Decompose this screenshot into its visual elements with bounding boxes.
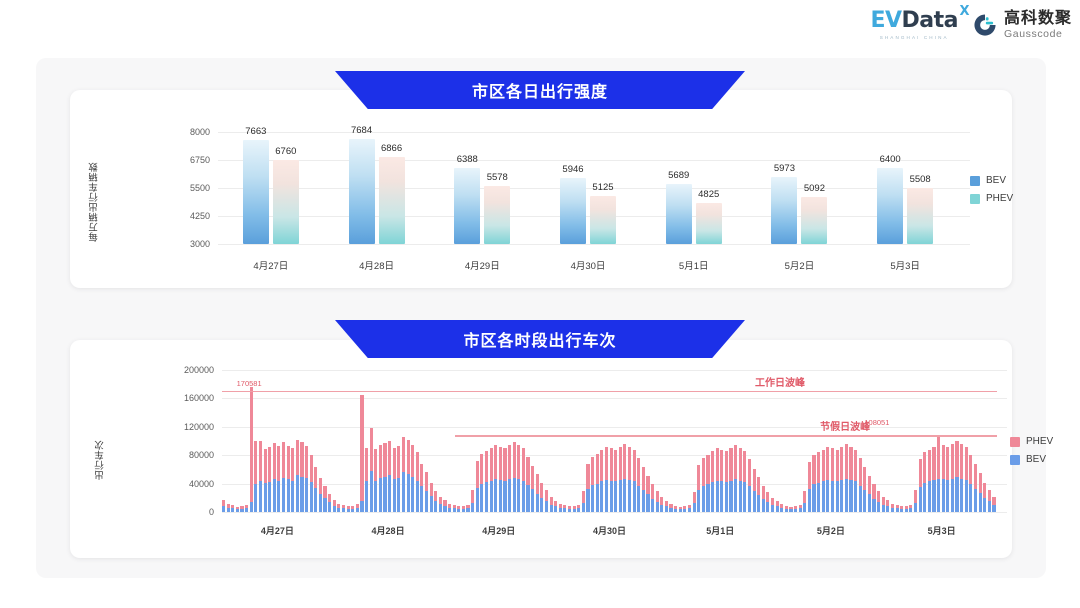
- chart2-bar-segment-phev: [716, 448, 719, 481]
- chart2-bar-segment-bev: [227, 508, 230, 512]
- chart2-x-label: 4月27日: [261, 524, 294, 537]
- chart1-y-axis-title: 每万辆出行车辆数: [88, 134, 102, 242]
- chart2-bar-segment-bev: [374, 481, 377, 512]
- chart2-bar-segment-phev: [439, 497, 442, 504]
- chart2-bar-segment-bev: [988, 501, 991, 512]
- chart2-bar-segment-phev: [859, 458, 862, 486]
- chart2-bar-segment-bev: [310, 482, 313, 512]
- logo-bar: EVData X SHANGHAI CHINA 高科数聚 Gausscode: [870, 10, 1072, 40]
- chart2-bar-segment-bev: [531, 489, 534, 512]
- chart2-y-tick: 160000: [184, 393, 214, 403]
- chart2-bar-segment-bev: [660, 505, 663, 512]
- chart2-stacked-bar: [946, 447, 949, 512]
- chart2-stacked-bar: [979, 473, 982, 512]
- chart2-bar-segment-phev: [577, 505, 580, 508]
- chart2-bar-segment-phev: [753, 469, 756, 491]
- chart2-bar-segment-bev: [992, 505, 995, 512]
- chart2-bar-segment-bev: [826, 480, 829, 512]
- chart2-bar-segment-bev: [840, 480, 843, 512]
- chart2-bar-segment-bev: [526, 485, 529, 512]
- chart2-stacked-bar: [480, 454, 483, 512]
- chart2-bar-segment-phev: [240, 506, 243, 509]
- chart2-stacked-bar: [227, 504, 230, 512]
- chart2-bar-segment-bev: [264, 483, 267, 512]
- chart2-bar-segment-phev: [780, 504, 783, 508]
- chart2-bar-segment-bev: [397, 478, 400, 512]
- chart1-x-label: 4月30日: [571, 258, 606, 272]
- chart2-stacked-bar: [434, 491, 437, 512]
- chart2-stacked-bar: [840, 447, 843, 512]
- chart2-bar-segment-bev: [656, 502, 659, 512]
- chart2-stacked-bar: [831, 448, 834, 512]
- chart2-bar-segment-bev: [503, 481, 506, 512]
- chart2-bar-segment-phev: [559, 504, 562, 508]
- chart2-bar-segment-phev: [891, 504, 894, 508]
- chart2-bar-segment-bev: [485, 482, 488, 512]
- chart2-bar-segment-phev: [526, 457, 529, 485]
- chart2-bar-segment-phev: [946, 447, 949, 480]
- chart2-bar-segment-bev: [420, 486, 423, 512]
- chart2-bar-segment-bev: [550, 505, 553, 512]
- dashboard-page: EVData X SHANGHAI CHINA 高科数聚 Gausscode 市…: [0, 0, 1080, 608]
- chart2-bar-segment-bev: [836, 481, 839, 512]
- chart2-bar-segment-phev: [702, 458, 705, 486]
- chart2-bar-segment-bev: [923, 483, 926, 512]
- chart2-bar-segment-bev: [937, 479, 940, 512]
- chart1-gridline: [218, 244, 970, 245]
- chart2-stacked-bar: [360, 395, 363, 512]
- chart1-bar-value: 5125: [575, 182, 631, 193]
- chart2-stacked-bar: [264, 449, 267, 512]
- chart2-bar-segment-phev: [969, 455, 972, 484]
- chart2-bar-segment-bev: [287, 479, 290, 512]
- chart1-bar-value: 7684: [334, 125, 390, 136]
- chart2-stacked-bar: [420, 464, 423, 512]
- chart2-bar-segment-phev: [277, 446, 280, 481]
- chart2-bar-segment-phev: [287, 446, 290, 479]
- chart2-bar-segment-bev: [250, 502, 253, 512]
- chart2-bar-segment-phev: [960, 444, 963, 479]
- chart2-bar-segment-bev: [277, 481, 280, 512]
- chart2-bar-segment-bev: [268, 482, 271, 512]
- chart2-bar-segment-phev: [854, 450, 857, 482]
- evdata-superscript-x: X: [959, 5, 969, 18]
- chart2-stacked-bar: [443, 500, 446, 512]
- chart2-bar-segment-phev: [402, 437, 405, 473]
- chart2-stacked-bar: [720, 450, 723, 512]
- chart2-stacked-bar: [300, 442, 303, 512]
- chart2-bar-segment-bev: [425, 491, 428, 512]
- chart2-stacked-bar: [753, 469, 756, 512]
- chart2-bar-segment-bev: [771, 505, 774, 512]
- chart2-bar-segment-bev: [729, 481, 732, 512]
- chart2-bar-segment-phev: [365, 448, 368, 481]
- chart2-annotation-line-weekday-peak: [222, 391, 997, 392]
- chart2-bar-segment-phev: [485, 451, 488, 482]
- chart2-stacked-bar: [905, 506, 908, 512]
- chart2-bar-segment-bev: [462, 509, 465, 512]
- chart2-x-label: 4月28日: [372, 524, 405, 537]
- chart2-bar-segment-phev: [651, 484, 654, 498]
- chart2-bar-segment-phev: [896, 505, 899, 508]
- chart2-bar-segment-bev: [416, 481, 419, 512]
- chart1-bar-value: 6400: [862, 154, 918, 165]
- chart2-stacked-bar: [462, 506, 465, 512]
- chart1-legend-swatch: [970, 194, 980, 204]
- chart2-bar-segment-phev: [443, 500, 446, 506]
- chart2-bar-segment-bev: [776, 506, 779, 512]
- chart2-stacked-bar: [919, 459, 922, 512]
- chart2-bar-segment-bev: [439, 504, 442, 512]
- chart2-bar-segment-bev: [471, 503, 474, 512]
- chart2-bar-segment-bev: [365, 481, 368, 512]
- daily-intensity-title: 市区各日出行强度: [472, 78, 608, 102]
- chart2-stacked-bar: [453, 505, 456, 512]
- chart2-stacked-bar: [231, 505, 234, 512]
- chart2-stacked-bar: [425, 472, 428, 512]
- chart2-bar-segment-phev: [812, 455, 815, 484]
- chart2-bar-segment-phev: [254, 441, 257, 484]
- chart2-stacked-bar: [240, 506, 243, 512]
- gausscode-en-name: Gausscode: [1004, 29, 1072, 40]
- chart2-bar-segment-phev: [494, 445, 497, 479]
- chart2-stacked-bar: [273, 443, 276, 512]
- chart2-bar-segment-phev: [734, 445, 737, 479]
- chart2-bar-segment-phev: [660, 497, 663, 504]
- chart2-bar-segment-phev: [333, 500, 336, 506]
- chart2-stacked-bar: [268, 447, 271, 512]
- chart2-stacked-bar: [863, 467, 866, 512]
- chart1-bar-value: 4825: [681, 189, 737, 200]
- chart2-stacked-bar: [466, 505, 469, 512]
- chart2-stacked-bar: [319, 478, 322, 512]
- chart2-annotation-line-holiday-peak: [455, 435, 998, 436]
- chart1-legend: BEVPHEV: [970, 175, 1013, 204]
- chart2-stacked-bar: [679, 507, 682, 512]
- chart2-bar-segment-phev: [259, 441, 262, 481]
- chart2-bar-segment-bev: [582, 503, 585, 512]
- chart2-bar-segment-phev: [739, 448, 742, 481]
- chart2-stacked-bar: [859, 458, 862, 512]
- chart2-bar-segment-phev: [531, 466, 534, 489]
- chart2-bar-segment-bev: [319, 494, 322, 512]
- chart2-bar-segment-phev: [942, 445, 945, 479]
- evdata-logo: EVData X SHANGHAI CHINA: [870, 10, 958, 40]
- chart2-bar-segment-bev: [955, 477, 958, 512]
- chart2-bar-segment-phev: [586, 464, 589, 490]
- chart2-bar-segment-bev: [831, 481, 834, 512]
- chart2-stacked-bar: [808, 462, 811, 512]
- chart2-stacked-bar: [812, 455, 815, 512]
- chart2-legend-item-phev[interactable]: PHEV: [1010, 436, 1053, 447]
- chart2-bar-segment-bev: [863, 490, 866, 512]
- chart2-stacked-bar: [287, 446, 290, 512]
- chart1-bar-value: 5092: [786, 183, 842, 194]
- chart2-bar-segment-bev: [748, 486, 751, 512]
- chart2-bar-segment-bev: [808, 489, 811, 512]
- chart2-stacked-bar: [540, 483, 543, 512]
- chart2-bar-segment-phev: [688, 505, 691, 508]
- chart2-stacked-bar: [826, 447, 829, 512]
- chart2-bar-segment-phev: [250, 387, 253, 502]
- chart2-bar-segment-phev: [711, 451, 714, 482]
- chart2-stacked-bar: [526, 457, 529, 512]
- chart2-bar-segment-bev: [753, 491, 756, 512]
- chart2-stacked-bar: [669, 504, 672, 512]
- chart2-bar-segment-phev: [457, 506, 460, 509]
- chart2-bar-segment-bev: [388, 475, 391, 512]
- chart2-stacked-bar: [729, 448, 732, 512]
- chart2-stacked-bar: [610, 448, 613, 512]
- chart2-stacked-bar: [836, 450, 839, 512]
- chart2-bar-segment-phev: [840, 447, 843, 480]
- chart2-stacked-bar: [559, 504, 562, 512]
- chart2-stacked-bar: [591, 457, 594, 512]
- chart2-bar-segment-bev: [393, 479, 396, 512]
- chart1-x-label: 4月29日: [465, 258, 500, 272]
- chart2-stacked-bar: [614, 450, 617, 512]
- chart2-bar-segment-phev: [669, 504, 672, 508]
- chart2-bar-segment-phev: [296, 440, 299, 476]
- chart2-stacked-bar: [854, 450, 857, 512]
- gausscode-cn-name: 高科数聚: [1004, 11, 1072, 27]
- chart2-bar-segment-bev: [633, 481, 636, 512]
- chart2-bar-segment-phev: [554, 501, 557, 506]
- chart2-bar-segment-bev: [605, 480, 608, 512]
- chart2-bar-segment-phev: [983, 483, 986, 498]
- chart2-bar-segment-phev: [314, 467, 317, 488]
- chart2-bar-segment-bev: [785, 509, 788, 512]
- chart1-x-label: 5月1日: [679, 258, 709, 272]
- chart2-bar-segment-bev: [706, 484, 709, 512]
- chart2-bar-segment-bev: [282, 478, 285, 512]
- chart2-bar-segment-bev: [443, 506, 446, 512]
- chart2-bar-segment-bev: [305, 478, 308, 512]
- chart2-bar-segment-phev: [397, 446, 400, 478]
- chart2-stacked-bar: [605, 447, 608, 512]
- chart2-y-tick: 120000: [184, 422, 214, 432]
- chart2-bar-segment-phev: [642, 467, 645, 490]
- chart2-bar-segment-phev: [383, 443, 386, 476]
- chart2-stacked-bar: [794, 506, 797, 512]
- chart1-bar-phev: [801, 197, 827, 244]
- chart2-stacked-bar: [683, 506, 686, 512]
- chart2-stacked-bar: [900, 506, 903, 512]
- chart2-bar-segment-phev: [836, 450, 839, 482]
- chart2-stacked-bar: [430, 483, 433, 512]
- chart1-bar-value: 5578: [469, 172, 525, 183]
- chart2-stacked-bar: [633, 450, 636, 512]
- gausscode-text: 高科数聚 Gausscode: [1004, 11, 1072, 40]
- chart2-bar-segment-phev: [490, 448, 493, 481]
- chart2-bar-segment-bev: [383, 477, 386, 513]
- chart2-stacked-bar: [222, 500, 225, 512]
- chart2-bar-segment-bev: [932, 480, 935, 512]
- chart2-bar-segment-phev: [766, 492, 769, 502]
- chart2-bar-segment-bev: [739, 481, 742, 512]
- chart2-peak-value: 170581: [237, 379, 262, 388]
- chart2-stacked-bar: [310, 455, 313, 512]
- chart2-stacked-bar: [734, 445, 737, 512]
- chart2-bar-segment-phev: [831, 448, 834, 481]
- chart2-bar-segment-phev: [563, 505, 566, 508]
- chart2-bar-segment-bev: [946, 480, 949, 512]
- chart2-bar-segment-phev: [965, 447, 968, 480]
- chart2-bar-segment-phev: [693, 492, 696, 504]
- chart2-bar-segment-bev: [951, 479, 954, 512]
- chart2-bar-segment-phev: [988, 490, 991, 501]
- chart2-stacked-bar: [942, 445, 945, 512]
- chart2-bar-segment-phev: [407, 440, 410, 474]
- chart2-bar-segment-bev: [291, 481, 294, 512]
- chart2-legend-label: BEV: [1026, 454, 1046, 465]
- chart2-bar-segment-phev: [868, 476, 871, 494]
- chart2-bar-segment-phev: [425, 472, 428, 490]
- chart2-legend-label: PHEV: [1026, 436, 1053, 447]
- chart1-bar-phev: [484, 186, 510, 244]
- chart1-y-tick: 5500: [190, 183, 210, 193]
- chart2-bar-segment-phev: [282, 442, 285, 478]
- chart1-bar-phev: [907, 188, 933, 244]
- chart2-bar-segment-phev: [416, 452, 419, 480]
- chart2-bar-segment-phev: [351, 506, 354, 509]
- chart2-bar-segment-phev: [849, 447, 852, 480]
- chart2-bar-segment-phev: [785, 506, 788, 509]
- evdata-wordmark: EVData X: [870, 10, 958, 32]
- chart2-bar-segment-phev: [222, 500, 225, 506]
- chart2-bar-segment-phev: [360, 395, 363, 502]
- chart2-bar-segment-bev: [896, 508, 899, 512]
- gausscode-mark-icon: [972, 12, 998, 38]
- chart2-bar-segment-phev: [674, 506, 677, 509]
- chart2-stacked-bar: [568, 506, 571, 512]
- chart2-stacked-bar: [513, 442, 516, 512]
- chart2-legend: PHEVBEV: [1010, 436, 1053, 465]
- chart1-legend-item-phev[interactable]: PHEV: [970, 193, 1013, 204]
- chart2-stacked-bar: [245, 505, 248, 512]
- chart2-stacked-bar: [789, 507, 792, 512]
- chart1-y-tick: 3000: [190, 239, 210, 249]
- chart2-bar-segment-phev: [808, 462, 811, 488]
- chart2-bar-segment-phev: [379, 445, 382, 478]
- chart2-bar-segment-phev: [462, 506, 465, 509]
- chart2-bar-segment-bev: [942, 479, 945, 512]
- chart2-stacked-bar: [600, 450, 603, 512]
- chart2-bar-segment-phev: [420, 464, 423, 487]
- chart2-y-tick: 200000: [184, 365, 214, 375]
- chart2-stacked-bar: [988, 490, 991, 512]
- chart2-bar-segment-phev: [347, 506, 350, 509]
- chart2-stacked-bar: [402, 437, 405, 512]
- chart2-bar-segment-phev: [605, 447, 608, 480]
- chart2-stacked-bar: [370, 428, 373, 512]
- chart2-bar-segment-phev: [536, 474, 539, 493]
- chart2-stacked-bar: [822, 450, 825, 512]
- chart2-gridline: [222, 512, 1007, 513]
- chart2-bar-segment-bev: [245, 508, 248, 512]
- chart2-bar-segment-phev: [513, 442, 516, 478]
- chart2-bar-segment-bev: [540, 498, 543, 512]
- daily-intensity-chart: 每万辆出行车辆数 30004250550067508000 7663676076…: [70, 90, 1012, 288]
- chart2-bar-segment-bev: [979, 493, 982, 512]
- chart2-stacked-bar: [660, 497, 663, 512]
- chart2-stacked-bar: [291, 448, 294, 512]
- chart2-bar-segment-bev: [965, 480, 968, 512]
- chart1-legend-item-bev[interactable]: BEV: [970, 175, 1013, 186]
- chart2-bar-segment-bev: [596, 484, 599, 512]
- chart2-bar-segment-phev: [291, 448, 294, 481]
- chart2-stacked-bar: [656, 491, 659, 512]
- chart2-legend-item-bev[interactable]: BEV: [1010, 454, 1053, 465]
- chart2-bar-segment-phev: [776, 501, 779, 506]
- chart2-bar-segment-bev: [960, 479, 963, 512]
- chart2-bar-segment-phev: [370, 428, 373, 471]
- chart2-bar-segment-bev: [563, 508, 566, 512]
- chart2-stacked-bar: [554, 501, 557, 512]
- chart2-bar-segment-phev: [231, 505, 234, 508]
- chart2-bar-segment-bev: [231, 508, 234, 512]
- chart2-stacked-bar: [817, 452, 820, 512]
- chart2-stacked-bar: [328, 494, 331, 512]
- chart2-bar-segment-phev: [568, 506, 571, 509]
- chart2-bar-segment-bev: [905, 509, 908, 512]
- chart2-stacked-bar: [383, 443, 386, 512]
- chart2-stacked-bar: [776, 501, 779, 512]
- chart2-bar-segment-bev: [610, 481, 613, 512]
- chart2-stacked-bar: [499, 447, 502, 512]
- chart2-bar-segment-bev: [669, 508, 672, 512]
- chart2-bar-segment-bev: [854, 481, 857, 512]
- chart2-bar-segment-bev: [517, 479, 520, 512]
- chart1-y-tick: 8000: [190, 127, 210, 137]
- chart2-bar-segment-bev: [799, 508, 802, 512]
- chart2-stacked-bar: [757, 477, 760, 512]
- chart2-bar-segment-bev: [914, 503, 917, 512]
- chart2-stacked-bar: [909, 505, 912, 512]
- chart2-bar-segment-bev: [586, 489, 589, 512]
- chart2-stacked-bar: [955, 441, 958, 512]
- chart2-bar-segment-bev: [803, 503, 806, 512]
- chart2-bar-segment-bev: [577, 508, 580, 512]
- chart2-bar-segment-phev: [430, 483, 433, 496]
- chart2-stacked-bar: [522, 448, 525, 512]
- chart2-bar-segment-phev: [822, 450, 825, 482]
- chart2-bar-segment-phev: [628, 447, 631, 480]
- chart2-bar-segment-phev: [679, 507, 682, 510]
- chart2-bar-segment-phev: [762, 486, 765, 499]
- chart2-stacked-bar: [711, 451, 714, 512]
- chart2-bar-segment-bev: [789, 509, 792, 512]
- chart2-bar-segment-phev: [914, 490, 917, 503]
- chart2-x-label: 5月1日: [706, 524, 734, 537]
- chart1-plot-area: 7663676076846866638855785946512556894825…: [218, 132, 958, 244]
- chart2-stacked-bar: [928, 450, 931, 512]
- chart2-bar-segment-bev: [568, 509, 571, 512]
- chart2-bar-segment-bev: [448, 508, 451, 512]
- chart2-bar-segment-bev: [379, 478, 382, 512]
- chart2-stacked-bar: [448, 504, 451, 512]
- chart2-bar-segment-phev: [951, 444, 954, 479]
- chart2-bar-segment-bev: [402, 472, 405, 512]
- chart2-stacked-bar: [439, 497, 442, 512]
- chart2-bar-segment-bev: [337, 508, 340, 512]
- chart2-y-tick: 0: [209, 507, 214, 517]
- chart2-bar-segment-bev: [683, 509, 686, 512]
- chart2-bar-segment-bev: [513, 478, 516, 512]
- chart2-bar-segment-phev: [619, 447, 622, 480]
- chart1-bar-value: 5689: [651, 170, 707, 181]
- chart2-bar-segment-phev: [656, 491, 659, 502]
